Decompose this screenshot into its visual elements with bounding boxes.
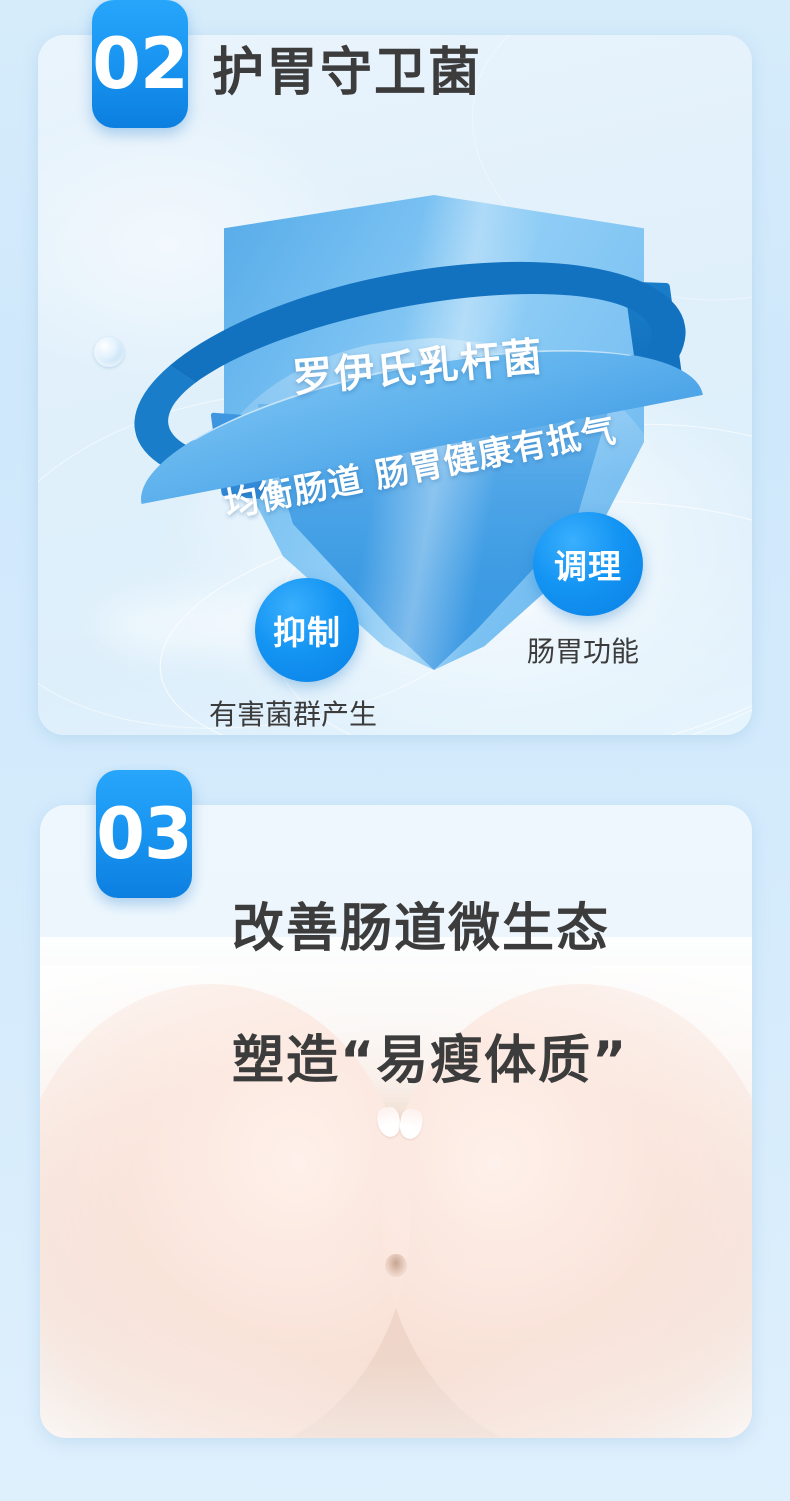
water-droplet-icon bbox=[94, 337, 124, 367]
section-03-title-line-2: 塑造“易瘦体质” bbox=[232, 1031, 628, 1091]
section-03-title: 改善肠道微生态 塑造“易瘦体质” bbox=[232, 830, 628, 1094]
section-02-card: 罗伊氏乳杆菌 均衡肠道 肠胃健康有抵气 抑制 调理 有害菌群产生 肠胃功能 bbox=[38, 35, 752, 735]
bubble-label: 调理 bbox=[554, 540, 622, 588]
section-number-badge-03: 03 bbox=[96, 770, 192, 898]
benefit-bubble-regulate: 调理 bbox=[533, 512, 643, 616]
section-number-badge-02: 02 bbox=[92, 0, 188, 128]
section-03-title-line-1: 改善肠道微生态 bbox=[232, 899, 610, 959]
benefit-bubble-suppress: 抑制 bbox=[255, 578, 359, 682]
bubble-label: 抑制 bbox=[273, 606, 341, 654]
section-02-title: 护胃守卫菌 bbox=[212, 42, 482, 104]
benefit-caption-regulate: 肠胃功能 bbox=[527, 630, 639, 670]
benefit-caption-suppress: 有害菌群产生 bbox=[209, 693, 377, 733]
